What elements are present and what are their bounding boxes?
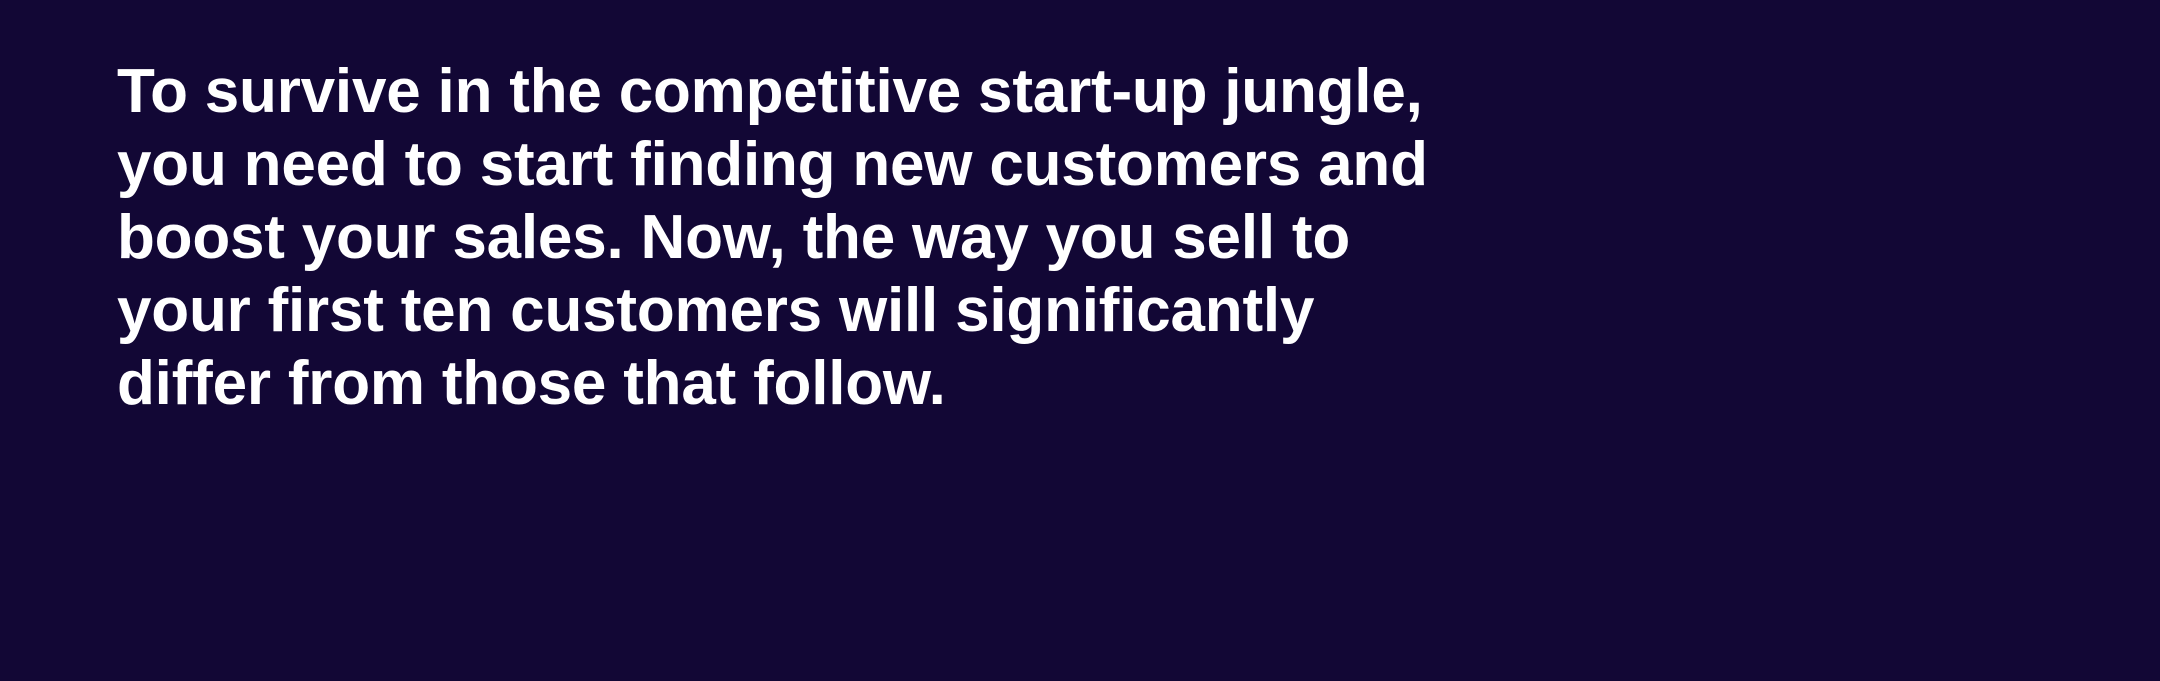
quote-line-5: differ from those that follow. [117,347,1917,420]
quote-text-block: To survive in the competitive start-up j… [117,55,1917,420]
quote-line-3: boost your sales. Now, the way you sell … [117,201,1917,274]
slide-canvas: To survive in the competitive start-up j… [0,0,2160,681]
quote-line-2: you need to start finding new customers … [117,128,1917,201]
quote-line-1: To survive in the competitive start-up j… [117,55,1917,128]
quote-line-4: your first ten customers will significan… [117,274,1917,347]
